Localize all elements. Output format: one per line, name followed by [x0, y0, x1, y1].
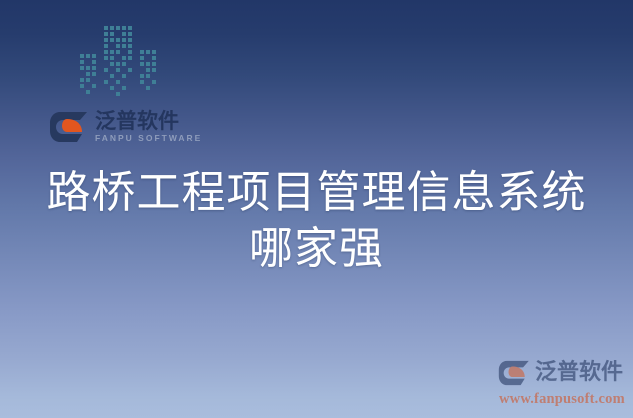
promo-banner: 泛普软件 FANPU SOFTWARE 路桥工程项目管理信息系统 哪家强 泛普软… — [0, 0, 633, 418]
brand-name-en: FANPU SOFTWARE — [95, 133, 202, 143]
page-title: 路桥工程项目管理信息系统 哪家强 — [0, 165, 633, 277]
watermark-url: www.fanpusoft.com — [499, 391, 630, 408]
brand-logo: 泛普软件 FANPU SOFTWARE — [49, 107, 202, 147]
brand-name-cn: 泛普软件 — [95, 110, 202, 132]
page-title-line1: 路桥工程项目管理信息系统 — [47, 167, 587, 218]
page-title-line2: 哪家强 — [0, 221, 633, 277]
watermark-logo-row: 泛普软件 — [498, 356, 630, 390]
fanpu-hexagon-logo-icon — [498, 359, 532, 387]
watermark-brand-name: 泛普软件 — [535, 362, 623, 384]
watermark: 泛普软件 www.fanpusoft.com — [498, 356, 630, 414]
pixel-mosaic-skyline-icon — [76, 20, 162, 100]
fanpu-hexagon-logo-icon — [49, 110, 91, 144]
